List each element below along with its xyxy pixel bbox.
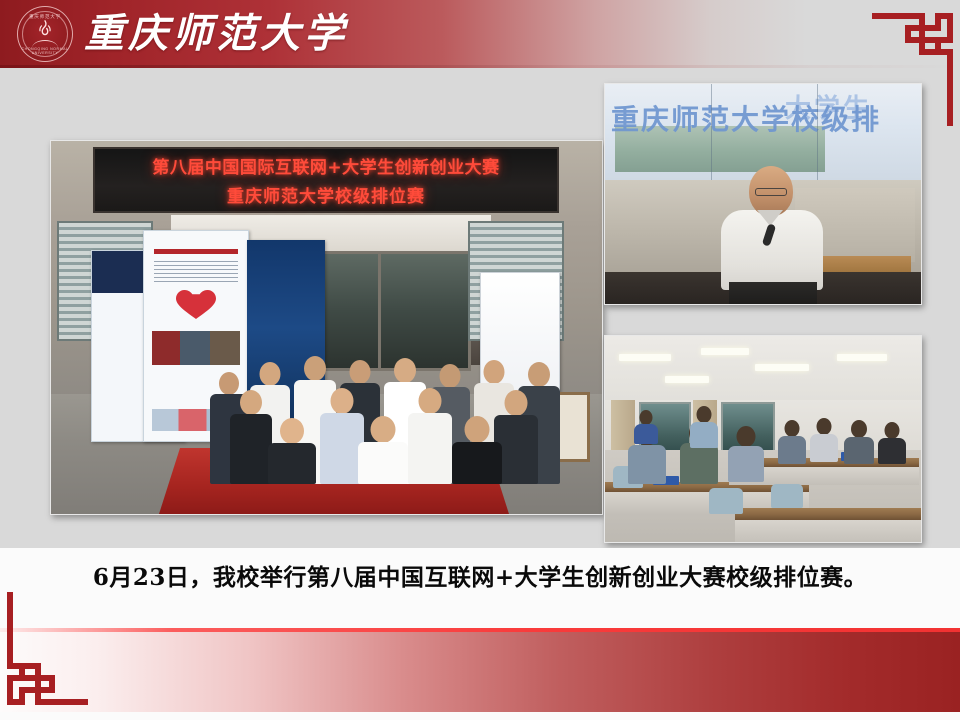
ceiling-light [755, 364, 809, 371]
audience-person [727, 426, 765, 482]
banner-title-bar [154, 249, 238, 254]
footer-bottom-strip [0, 712, 960, 720]
emblem-arc-bottom-text: CHONGQING NORMAL UNIVERSITY [18, 47, 72, 55]
audience-classroom-photo [604, 335, 922, 543]
screen-text: 重庆师范大学校级排 [611, 98, 881, 138]
classroom-chair [709, 488, 743, 514]
university-name-title: 重庆师范大学 [84, 4, 348, 64]
speaker-photo: 大学生 重庆师范大学校级排 [604, 83, 922, 305]
audience-person [809, 418, 839, 462]
audience-person [877, 422, 907, 464]
classroom-desk [735, 508, 922, 520]
slide-caption: 6月23日，我校举行第八届中国互联网+大学生创新创业大赛校级排位赛。 [0, 556, 960, 600]
screen-seam [817, 84, 818, 180]
group-photo-entrance: 第八届中国国际互联网+大学生创新创业大赛 重庆师范大学校级排位赛 [50, 140, 603, 515]
speaker-trousers [729, 282, 817, 305]
person [267, 418, 317, 484]
person [407, 388, 453, 484]
banner-text-lines [154, 261, 238, 283]
ceiling-light [701, 348, 749, 355]
emblem-flame-icon [34, 19, 56, 41]
person [451, 416, 503, 484]
screen-seam [711, 84, 712, 180]
page-header: 重庆师范大学 CHONGQING NORMAL UNIVERSITY 重庆师范大… [0, 0, 960, 68]
university-emblem-icon: 重庆师范大学 CHONGQING NORMAL UNIVERSITY [17, 6, 73, 62]
projection-screen: 大学生 重庆师范大学校级排 [605, 84, 921, 180]
photo-group-people [201, 314, 562, 484]
led-banner-line1: 第八届中国国际互联网+大学生创新创业大赛 [152, 153, 499, 178]
footer-gradient-band [0, 632, 960, 712]
audience-person [689, 406, 719, 448]
ceiling-light [837, 354, 887, 361]
speaker-glasses-icon [755, 188, 787, 196]
audience-person [777, 420, 807, 464]
ceiling-light [619, 354, 671, 361]
audience-person [843, 420, 875, 464]
ceiling-light [665, 376, 709, 383]
slide-canvas: 重庆师范大学 CHONGQING NORMAL UNIVERSITY 重庆师范大… [0, 0, 960, 720]
classroom-chair [771, 484, 803, 508]
desk-front-panel [735, 520, 922, 543]
audience-person [633, 410, 659, 444]
corner-ornament-bottom-left-icon [0, 588, 96, 710]
person [357, 416, 409, 484]
led-banner-line2: 重庆师范大学校级排位赛 [227, 182, 425, 207]
led-banner: 第八届中国国际互联网+大学生创新创业大赛 重庆师范大学校级排位赛 [93, 147, 559, 213]
